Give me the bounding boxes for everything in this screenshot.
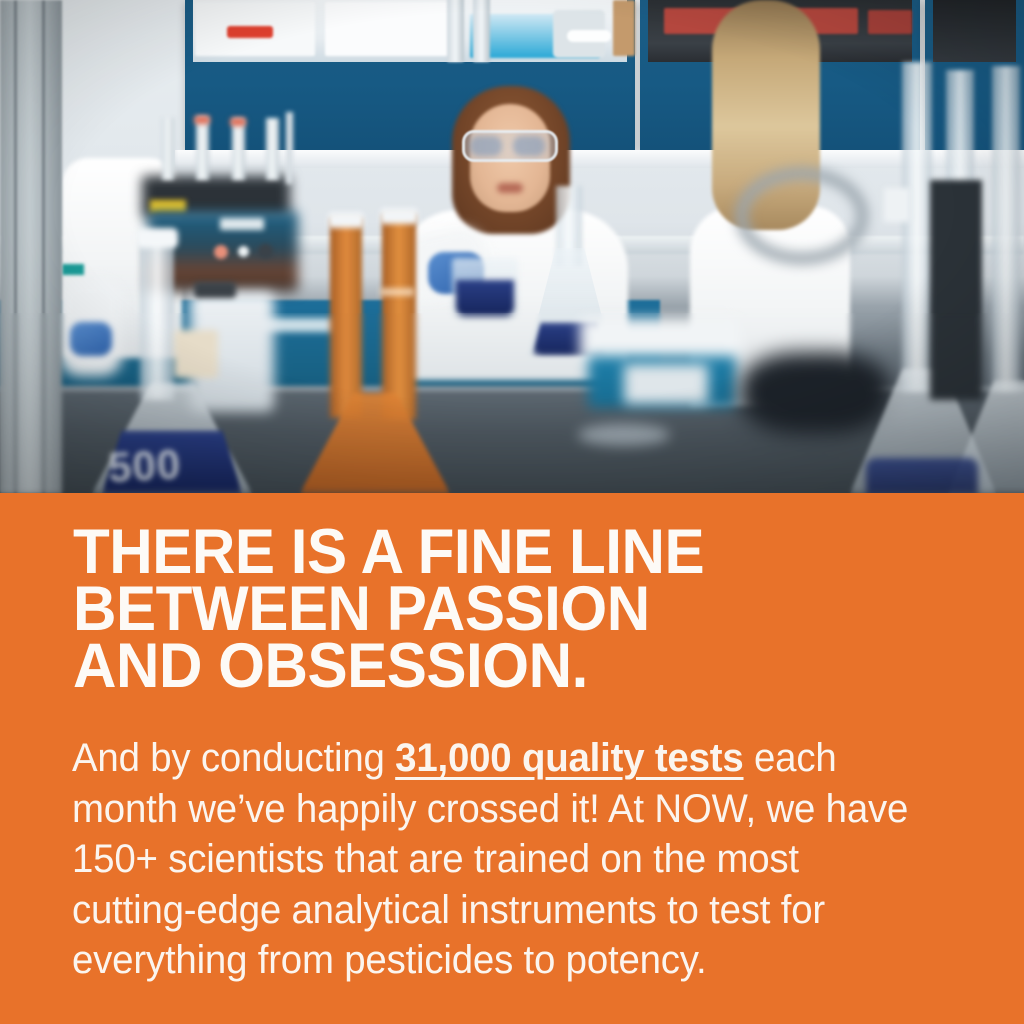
lab-photo: 500 — [0, 0, 1024, 493]
cabinet-red-tray-3 — [868, 10, 912, 34]
structural-post-left — [0, 0, 62, 493]
watch-glass — [578, 424, 670, 446]
amber-neck-1 — [330, 218, 362, 418]
instrument-knob-white — [238, 246, 249, 257]
amber-cap-1 — [328, 212, 364, 228]
cabinet-tube-b — [473, 0, 490, 62]
amber-neck-2 — [382, 214, 416, 420]
volumetric-stopper-left — [136, 228, 178, 248]
amber-ring-label — [380, 288, 414, 296]
instrument-knob-dark — [258, 244, 273, 259]
label-tape-left-2 — [62, 264, 84, 275]
rack-tube-cap-1 — [194, 116, 210, 124]
scientist-right-tubing — [736, 168, 868, 264]
volumetric-neck-r1 — [902, 62, 932, 392]
instrument-knob-orange — [214, 245, 228, 259]
goggles-lens-right — [513, 136, 545, 156]
volumetric-neck-left — [140, 238, 174, 400]
reagent-bottle-label — [174, 330, 218, 378]
cabinet-label-red — [227, 26, 273, 38]
instrument-display — [220, 218, 264, 230]
body-copy: And by conducting 31,000 quality tests e… — [72, 733, 917, 986]
social-card: 500 THERE IS A FINE LINE BETWEEN PASSION… — [0, 0, 1024, 1024]
rack-tube-4 — [266, 118, 279, 180]
volumetric-liquid-r1 — [866, 458, 978, 493]
goggles-lens-left — [470, 136, 502, 156]
headline: THERE IS A FINE LINE BETWEEN PASSION AND… — [73, 524, 933, 695]
cabinet-tube-a — [447, 0, 464, 62]
rack-tube-1 — [162, 118, 174, 180]
cable-coil — [740, 352, 890, 434]
rack-tube-cap-2 — [230, 118, 246, 126]
scientist-left-glove — [70, 322, 112, 356]
amber-cap-2 — [380, 208, 418, 224]
stand-rod-left — [286, 112, 293, 184]
cabinet-glass-far-right — [933, 0, 1016, 62]
body-copy-highlight-stat: 31,000 quality tests — [395, 736, 743, 780]
volumetric-neck-r3 — [992, 66, 1020, 392]
rack-tube-2 — [196, 116, 209, 180]
balance-panel — [624, 364, 708, 404]
reagent-bottle-cap — [194, 282, 236, 298]
rack-tube-3 — [232, 118, 245, 180]
body-copy-lead: And by conducting — [72, 736, 395, 780]
cabinet-box-white-2 — [325, 2, 450, 56]
outlet-plate-right — [884, 188, 910, 222]
cabinet-cap-white — [567, 30, 611, 42]
scientist-centre-mouth — [497, 183, 523, 193]
flask-volume-label: 500 — [107, 440, 182, 492]
cabinet-lip-left — [175, 150, 645, 168]
post-seam-b — [42, 0, 45, 493]
post-seam-a — [14, 0, 17, 493]
dark-panel-right — [930, 180, 982, 400]
cabinet-carton — [613, 0, 635, 56]
beaker-liquid — [456, 280, 514, 316]
